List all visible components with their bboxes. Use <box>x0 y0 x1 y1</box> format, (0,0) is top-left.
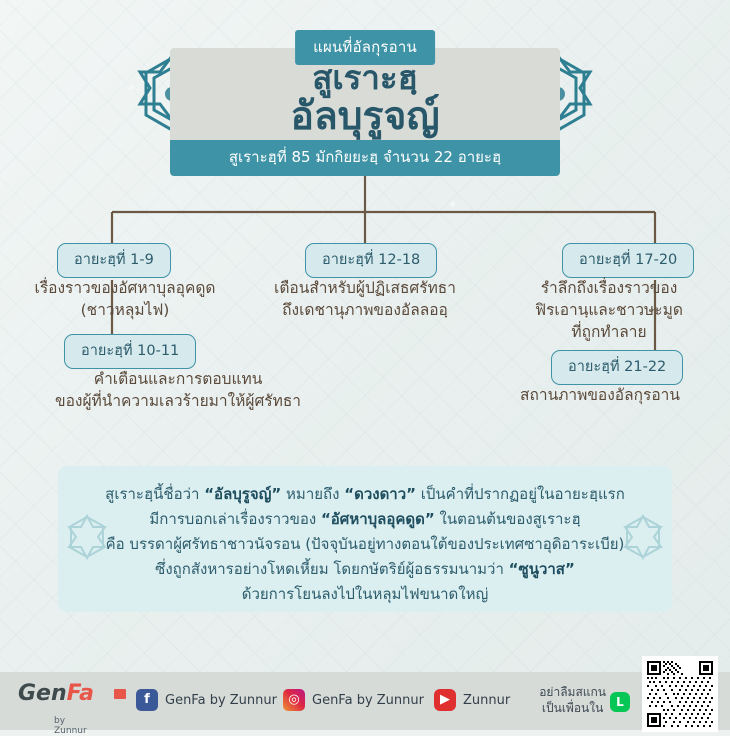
instagram-label: GenFa by Zunnur <box>312 693 424 708</box>
summary-l4-b: “ซูนูวาส” <box>509 560 575 578</box>
footer: GenFa by Zunnur f GenFa by Zunnur ◎ GenF… <box>0 672 730 730</box>
summary-line-4: ซึ่งถูกสังหารอย่างโหดเหี้ยม โดยกษัตริย์ผ… <box>76 557 654 582</box>
summary-l2-c: ในตอนต้นของสูเราะฮฺ <box>435 510 581 528</box>
brand-logo-sub: by Zunnur <box>54 716 94 736</box>
surah-name: อัลบุรูจญ์ <box>170 94 560 140</box>
summary-line-3: คือ บรรดาผู้ศรัทธาชาวนัจรอน (ปัจจุบันอยู… <box>76 532 654 557</box>
brand-logo-fa: Fa <box>67 681 94 706</box>
summary-ornament-left-icon <box>64 514 110 560</box>
summary-l4-a: ซึ่งถูกสังหารอย่างโหดเหี้ยม โดยกษัตริย์ผ… <box>155 560 508 578</box>
brand-flag-icon <box>114 689 126 699</box>
summary-l1-b: “อัลบุรูจญ์” <box>204 485 281 503</box>
summary-l1-e: เป็นคำที่ปรากฏอยู่ในอายะฮฺแรก <box>416 485 625 503</box>
summary-line-1: สูเราะฮฺนี้ชื่อว่า “อัลบุรูจญ์” หมายถึง … <box>76 482 654 507</box>
ribbon-badge: แผนที่อัลกุรอาน <box>295 30 435 65</box>
facebook-icon[interactable]: f <box>136 689 158 711</box>
scan-instruction: อย่าลืมสแกน เป็นเพื่อนใน <box>539 684 606 716</box>
facebook-label: GenFa by Zunnur <box>165 693 277 708</box>
facebook-link[interactable]: f GenFa by Zunnur <box>136 689 277 711</box>
ayah-range-10-11-pill[interactable]: อายะฮฺที่ 10-11 <box>64 334 196 369</box>
summary-l2-b: “อัศหาบุลอุคดูด” <box>321 510 435 528</box>
summary-l2-a: มีการบอกเล่าเรื่องราวของ <box>149 510 321 528</box>
surah-subtitle: สูเราะฮฺที่ 85 มักกิยยะฮฺ จำนวน 22 อายะฮ… <box>170 140 560 176</box>
summary-l1-a: สูเราะฮฺนี้ชื่อว่า <box>105 485 204 503</box>
scan-line-2: เป็นเพื่อนใน <box>539 700 606 716</box>
scan-line-1: อย่าลืมสแกน <box>539 684 606 700</box>
summary-line-2: มีการบอกเล่าเรื่องราวของ “อัศหาบุลอุคดูด… <box>76 507 654 532</box>
ayah-range-17-20-pill[interactable]: อายะฮฺที่ 17-20 <box>562 243 694 278</box>
ayah-1-9-description: เรื่องราวของอัศหาบุลอุคดูด (ชาวหลุมไฟ) <box>30 277 220 321</box>
ayah-range-1-9-pill[interactable]: อายะฮฺที่ 1-9 <box>57 243 171 278</box>
youtube-link[interactable]: ▶ Zunnur <box>434 689 510 711</box>
ayah-10-11-description: คำเตือนและการตอบแทน ของผู้ที่นำความเลวร้… <box>18 368 338 412</box>
summary-ornament-right-icon <box>620 514 666 560</box>
brand-logo-gen: Gen <box>18 681 67 706</box>
summary-line-5: ด้วยการโยนลงไปในหลุมไฟขนาดใหญ่ <box>76 582 654 607</box>
qr-code-image <box>647 661 713 727</box>
summary-box: สูเราะฮฺนี้ชื่อว่า “อัลบุรูจญ์” หมายถึง … <box>58 466 672 612</box>
ayah-range-21-22-pill[interactable]: อายะฮฺที่ 21-22 <box>551 350 683 385</box>
ayah-12-18-description: เตือนสำหรับผู้ปฏิเสธศรัทธา ถึงเดชานุภาพข… <box>252 277 478 321</box>
qr-code[interactable] <box>642 656 718 732</box>
brand-logo: GenFa by Zunnur <box>18 681 94 706</box>
summary-l1-c: หมายถึง <box>281 485 344 503</box>
header: สูเราะฮฺ อัลบุรูจญ์ แผนที่อัลกุรอาน สูเร… <box>0 0 730 170</box>
ayah-range-12-18-pill[interactable]: อายะฮฺที่ 12-18 <box>305 243 437 278</box>
ayah-21-22-description: สถานภาพของอัลกุรอาน <box>480 384 720 406</box>
line-app-icon[interactable] <box>610 692 630 712</box>
youtube-icon[interactable]: ▶ <box>434 689 456 711</box>
instagram-link[interactable]: ◎ GenFa by Zunnur <box>283 689 424 711</box>
ayah-17-20-description: รำลึกถึงเรื่องราวของ ฟิรเอานฺและชาวษะมูด… <box>509 277 709 343</box>
summary-l1-d: “ดวงดาว” <box>344 485 416 503</box>
youtube-label: Zunnur <box>463 693 510 708</box>
instagram-icon[interactable]: ◎ <box>283 689 305 711</box>
